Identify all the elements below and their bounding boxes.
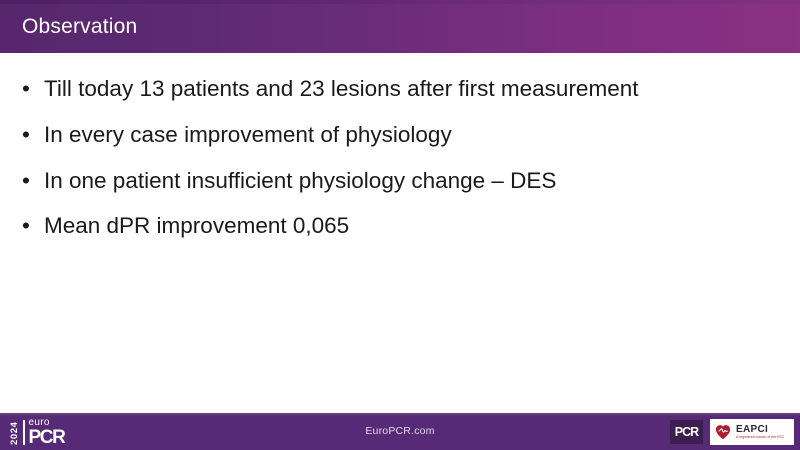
bullet-text: Mean dPR improvement 0,065 xyxy=(44,213,349,238)
bullet-list: • Till today 13 patients and 23 lesions … xyxy=(0,53,800,241)
pcr-badge-label: PCR xyxy=(675,426,698,439)
eapci-logo: EAPCI A registered branch of the ESC xyxy=(710,419,794,445)
presentation-slide: Observation • Till today 13 patients and… xyxy=(0,0,800,450)
slide-title: Observation xyxy=(22,0,137,53)
bullet-point-icon: • xyxy=(22,212,30,241)
list-item: • Till today 13 patients and 23 lesions … xyxy=(0,75,800,104)
eapci-name-label: EAPCI xyxy=(736,425,784,435)
footer-top-divider xyxy=(0,413,800,415)
bullet-point-icon: • xyxy=(22,75,30,104)
bullet-text: In every case improvement of physiology xyxy=(44,122,452,147)
footer-logos: PCR EAPCI A registered branch of the ESC xyxy=(670,418,794,446)
eapci-subtitle-label: A registered branch of the ESC xyxy=(736,436,784,439)
bullet-point-icon: • xyxy=(22,167,30,196)
eapci-text-block: EAPCI A registered branch of the ESC xyxy=(736,425,784,440)
pcr-badge-logo: PCR xyxy=(670,420,703,444)
bullet-text: In one patient insufficient physiology c… xyxy=(44,168,556,193)
list-item: • In every case improvement of physiolog… xyxy=(0,121,800,150)
bullet-point-icon: • xyxy=(22,121,30,150)
heart-icon xyxy=(714,423,732,441)
slide-body: • Till today 13 patients and 23 lesions … xyxy=(0,53,800,413)
list-item: • Mean dPR improvement 0,065 xyxy=(0,212,800,241)
bullet-text: Till today 13 patients and 23 lesions af… xyxy=(44,76,638,101)
list-item: • In one patient insufficient physiology… xyxy=(0,167,800,196)
